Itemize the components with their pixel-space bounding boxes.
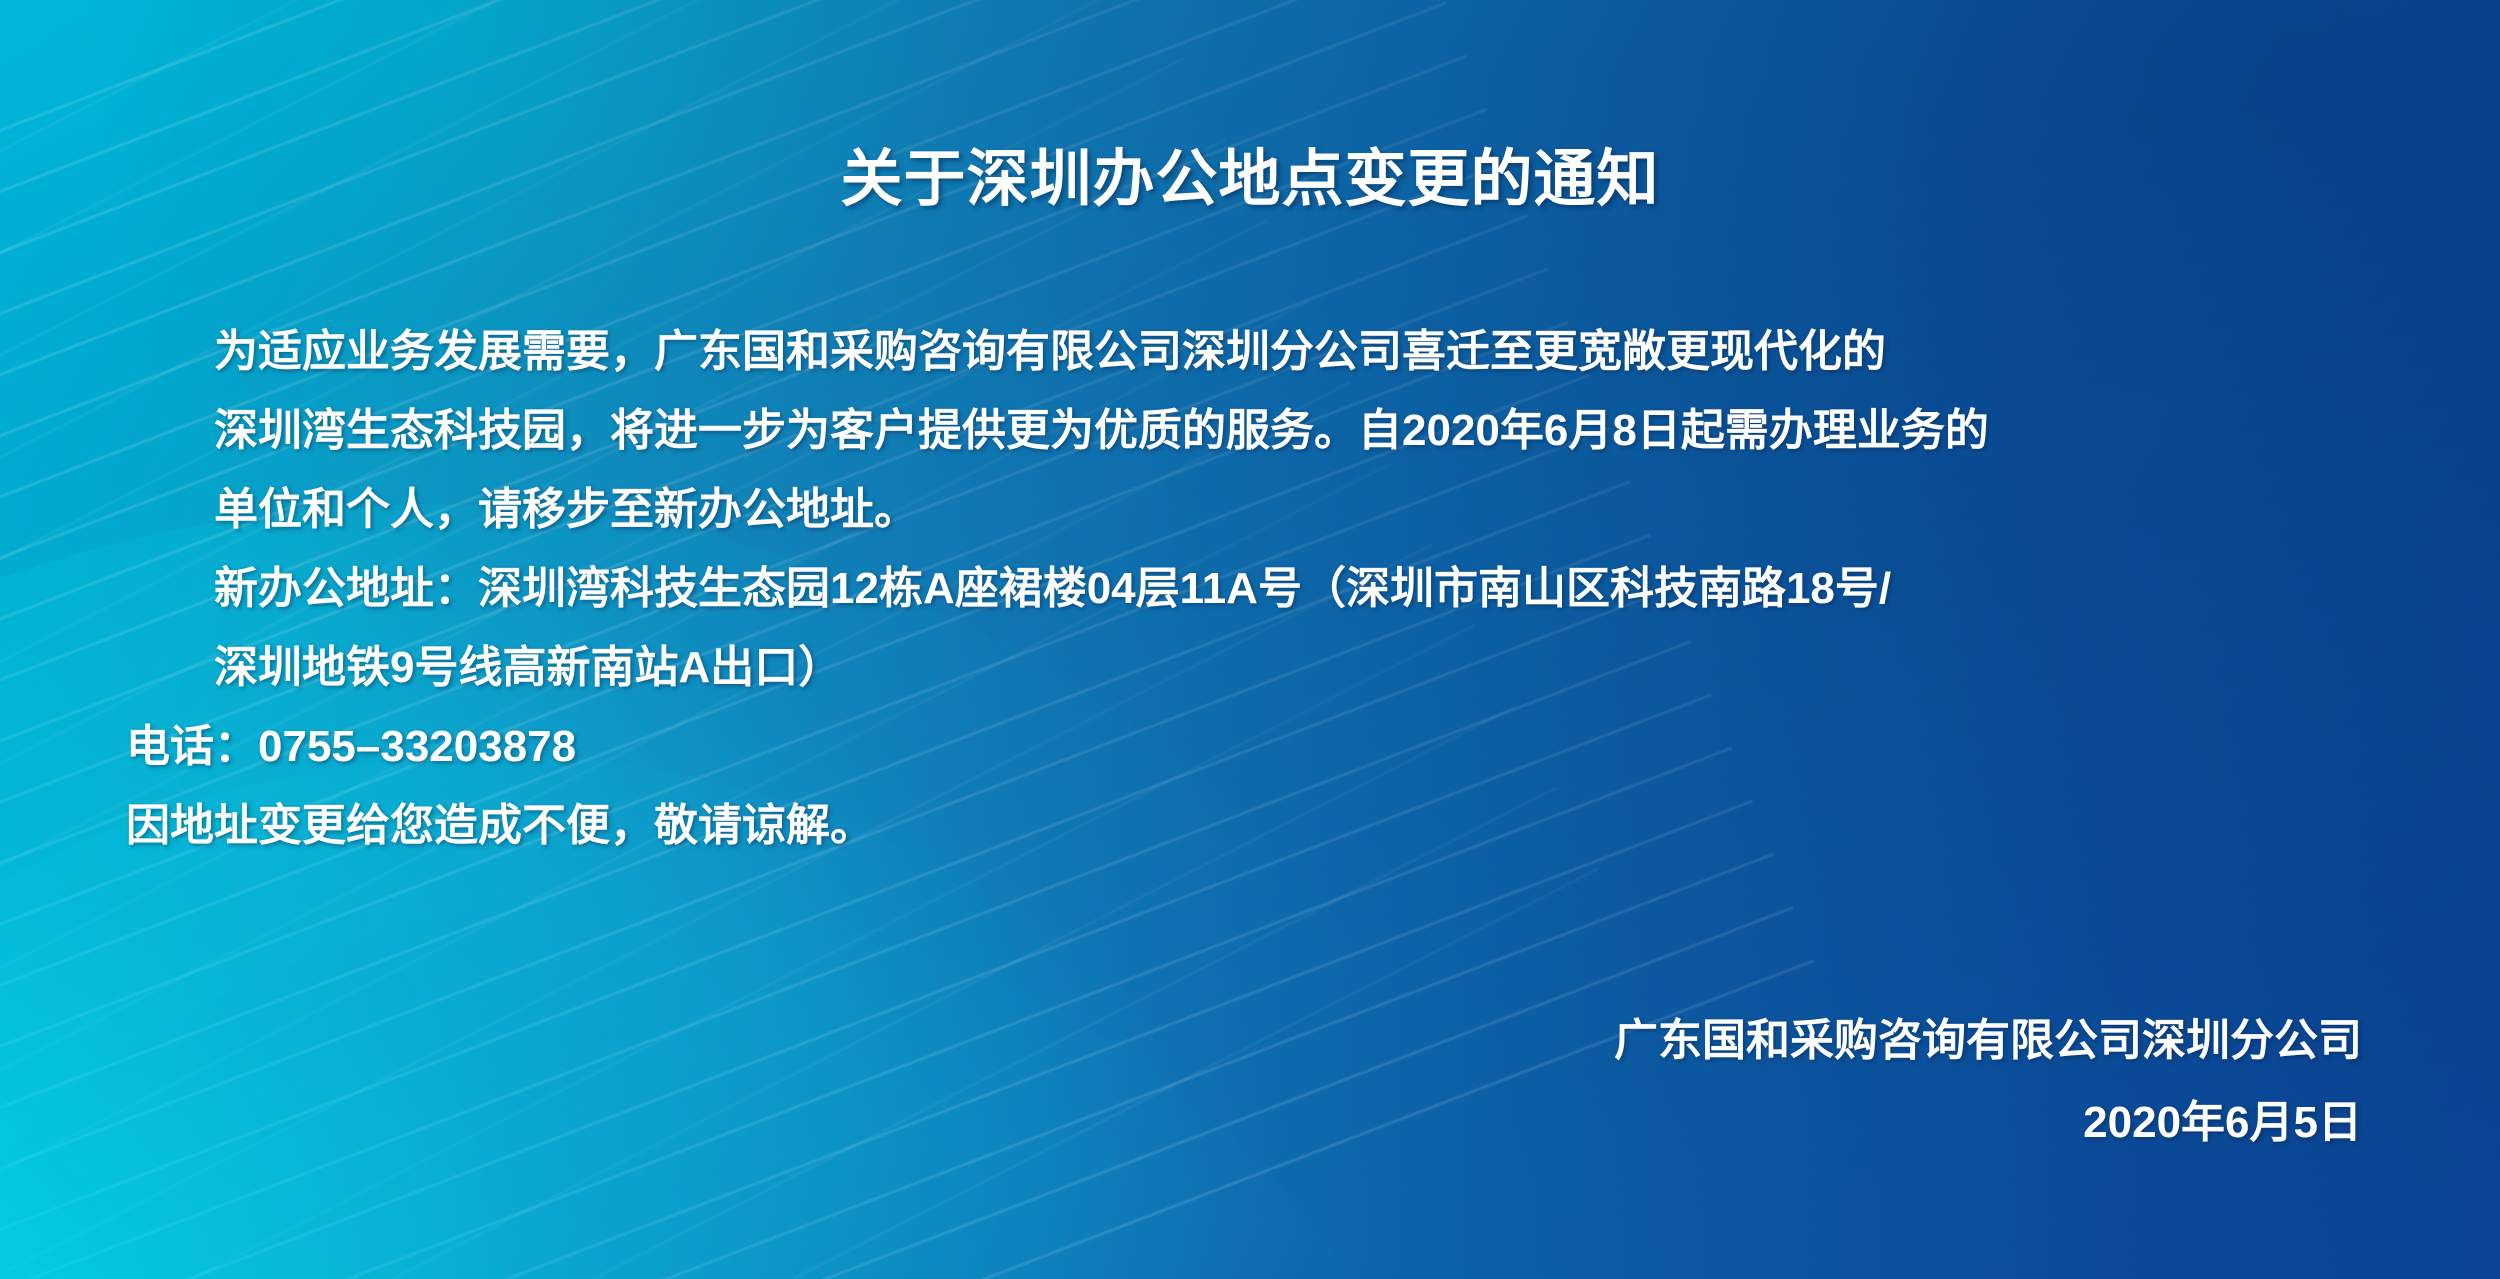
paragraph-apology: 因地址变更给您造成不便，敬请谅解。 [126, 786, 2386, 865]
paragraph-line: 单位和个人，请移步至新办公地址。 [126, 470, 2386, 549]
signature-block: 广东国和采购咨询有限公司深圳分公司 2020年6月5日 [1614, 1000, 2362, 1164]
paragraph-new-address: 新办公地址：深圳湾科技生态园12栋A座裙楼04层11A号（深圳市南山区科技南路1… [126, 549, 2386, 707]
paragraph-phone: 电话：0755–33203878 [126, 707, 2386, 786]
notice-body: 为适应业务发展需要，广东国和采购咨询有限公司深圳分公司喜迁至更宽敞更现代化的 深… [126, 312, 2386, 865]
page-title: 关于深圳办公地点变更的通知 [0, 128, 2500, 218]
poster-content: 关于深圳办公地点变更的通知 为适应业务发展需要，广东国和采购咨询有限公司深圳分公… [0, 0, 2500, 1279]
paragraph-line: 深圳地铁9号线高新南站A出口） [126, 628, 2386, 707]
paragraph-intro: 为适应业务发展需要，广东国和采购咨询有限公司深圳分公司喜迁至更宽敞更现代化的 深… [126, 312, 2386, 549]
phone-line: 电话：0755–33203878 [126, 707, 2386, 786]
paragraph-line: 深圳湾生态科技园，将进一步为客户提供更为优质的服务。自2020年6月8日起需办理… [126, 391, 2386, 470]
paragraph-line: 为适应业务发展需要，广东国和采购咨询有限公司深圳分公司喜迁至更宽敞更现代化的 [126, 312, 2386, 391]
paragraph-line: 因地址变更给您造成不便，敬请谅解。 [126, 786, 2386, 865]
signature-organization: 广东国和采购咨询有限公司深圳分公司 [1614, 1000, 2362, 1082]
paragraph-line: 新办公地址：深圳湾科技生态园12栋A座裙楼04层11A号（深圳市南山区科技南路1… [126, 549, 2386, 628]
signature-date: 2020年6月5日 [1614, 1082, 2362, 1164]
notice-poster: 关于深圳办公地点变更的通知 为适应业务发展需要，广东国和采购咨询有限公司深圳分公… [0, 0, 2500, 1279]
